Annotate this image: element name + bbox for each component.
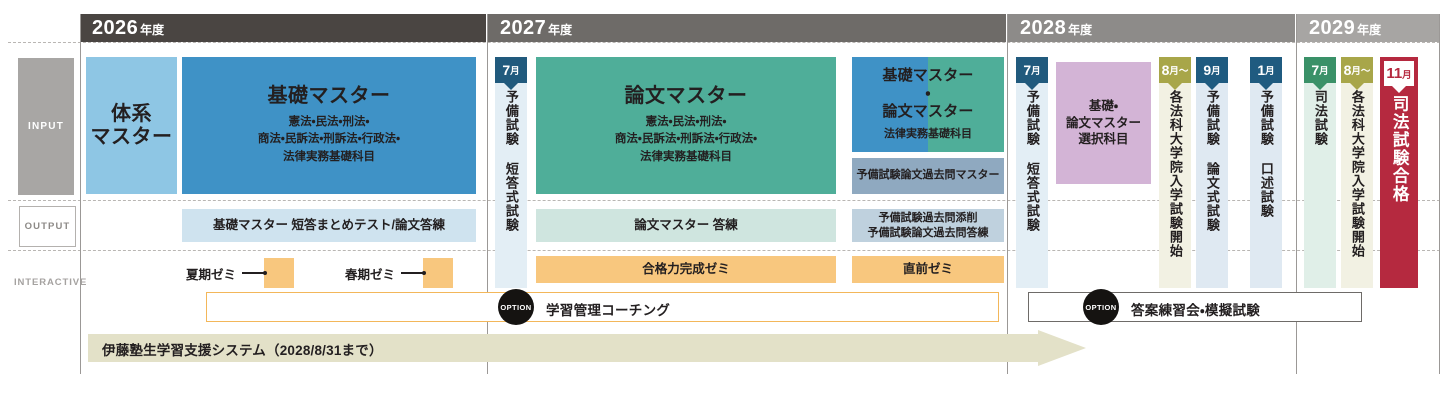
month-suffix: 月 <box>1265 67 1275 77</box>
column-divider-2026 <box>80 14 81 374</box>
interactive-box-goukakuryoku-zemi[interactable]: 合格力完成ゼミ <box>536 256 836 283</box>
input-box-taikei-master[interactable]: 体系 マスター <box>86 57 177 194</box>
month-number: 11 <box>1386 66 1402 81</box>
exam-month-badge: 1月 <box>1250 57 1282 83</box>
exam-label: 予備試験 口述試験 <box>1258 90 1274 218</box>
year-label: 2026 <box>92 18 138 38</box>
exam-label: 司法試験合格 <box>1389 95 1409 203</box>
box-title: 論文マスター 答練 <box>634 217 737 234</box>
exam-label: 各法科大学院入学試験開始 <box>1167 90 1183 258</box>
zemi-label: 夏期ゼミ <box>186 264 236 283</box>
option-bar-mogi-label: 答案練習会・模擬試験 <box>1131 299 1260 319</box>
box-title: 予備試験論文過去問マスター <box>857 168 1000 184</box>
month-suffix: 月 <box>1211 67 1221 77</box>
exam-body: 予備試験 口述試験 <box>1250 83 1282 288</box>
year-header-2026: 2026 年度 <box>80 14 486 42</box>
exam-column-shiho-goukaku[interactable]: 11月 司法試験合格 <box>1380 57 1418 288</box>
year-header-2027: 2027 年度 <box>488 14 1006 42</box>
exam-body: 予備試験 論文式試験 <box>1196 83 1228 288</box>
month-suffix: 月 <box>510 67 520 77</box>
rail-label-interactive: INTERACTIVE <box>14 277 80 288</box>
exam-month-badge: 11月 <box>1384 61 1414 86</box>
year-suffix: 年度 <box>140 24 164 36</box>
box-subtitle: 憲法・民法・刑法・ 商法・民訴法・刑訴法・行政法・ 法律実務基礎科目 <box>615 114 757 166</box>
support-system-arrow[interactable]: 伊藤塾生学習支援システム（2028/8/31まで） <box>88 330 1086 366</box>
exam-column-yobi-ronbun-2028[interactable]: 9月 予備試験 論文式試験 <box>1196 57 1228 288</box>
year-label: 2027 <box>500 18 546 38</box>
rail-label-input: INPUT <box>18 58 74 195</box>
pointer-line <box>401 272 423 274</box>
exam-body: 予備試験 短答式試験 <box>1016 83 1048 288</box>
input-box-yobi-kakomon-master[interactable]: 予備試験論文過去問マスター <box>852 158 1004 194</box>
exam-label: 予備試験 短答式試験 <box>503 90 519 232</box>
month-number: 7 <box>502 63 510 77</box>
year-header-2028: 2028 年度 <box>1008 14 1295 42</box>
box-title: 直前ゼミ <box>903 261 953 278</box>
exam-month-badge: 8月～ <box>1159 57 1191 83</box>
exam-label: 各法科大学院入学試験開始 <box>1349 90 1365 258</box>
exam-month-badge: 7月 <box>1016 57 1048 83</box>
zemi-marker-box <box>423 258 453 288</box>
exam-column-yobi-koujutsu-2028[interactable]: 1月 予備試験 口述試験 <box>1250 57 1282 288</box>
column-divider-2028 <box>1007 14 1008 374</box>
exam-label: 司法試験 <box>1312 90 1328 146</box>
exam-month-badge: 8月～ <box>1341 57 1373 83</box>
box-title: 基礎マスター 短答まとめテスト/論文答練 <box>213 217 445 234</box>
month-suffix: 月 <box>1031 67 1041 77</box>
box-title: 基礎マスター <box>268 85 391 108</box>
year-label: 2029 <box>1309 18 1355 38</box>
zemi-marker-box <box>264 258 294 288</box>
month-suffix: 月～ <box>1351 67 1370 77</box>
box-title: 予備試験過去問添削 予備試験論文過去問答練 <box>868 211 989 241</box>
box-title: 体系 マスター <box>91 103 173 149</box>
exam-body: 司法試験 <box>1304 83 1336 288</box>
exam-month-badge: 7月 <box>1304 57 1336 83</box>
exam-label: 予備試験 短答式試験 <box>1024 90 1040 232</box>
exam-month-badge: 7月 <box>495 57 527 83</box>
month-number: 7 <box>1311 63 1319 77</box>
input-box-sentaku-kamoku[interactable]: 基礎・ 論文マスター 選択科目 <box>1056 62 1151 184</box>
exam-column-shiho-shiken-2029[interactable]: 7月 司法試験 <box>1304 57 1336 288</box>
year-header-2029: 2029 年度 <box>1297 14 1440 42</box>
option-badge-icon: OPTION <box>1083 289 1119 325</box>
interactive-zemi-summer[interactable]: 夏期ゼミ <box>186 258 294 288</box>
input-box-ronbun-master[interactable]: 論文マスター 憲法・民法・刑法・ 商法・民訴法・刑訴法・行政法・ 法律実務基礎科… <box>536 57 836 194</box>
month-number: 9 <box>1203 63 1211 77</box>
interactive-zemi-spring[interactable]: 春期ゼミ <box>345 258 453 288</box>
box-title: 基礎マスター ・ 論文マスター <box>882 67 973 121</box>
row-divider-top <box>8 42 1440 43</box>
input-box-kiso-master[interactable]: 基礎マスター 憲法・民法・刑法・ 商法・民訴法・刑訴法・行政法・ 法律実務基礎科… <box>182 57 476 194</box>
year-label: 2028 <box>1020 18 1066 38</box>
exam-column-yobi-tanto-2028[interactable]: 7月 予備試験 短答式試験 <box>1016 57 1048 288</box>
year-suffix: 年度 <box>548 24 572 36</box>
month-suffix: 月～ <box>1169 67 1188 77</box>
box-subtitle: 法律実務基礎科目 <box>884 127 972 143</box>
output-box-yobi-tensaku[interactable]: 予備試験過去問添削 予備試験論文過去問答練 <box>852 209 1004 242</box>
month-suffix: 月 <box>1402 71 1412 81</box>
output-box-kiso-tanto-test[interactable]: 基礎マスター 短答まとめテスト/論文答練 <box>182 209 476 242</box>
option-bar-coaching-label: 学習管理コーチング <box>546 299 670 319</box>
support-system-label: 伊藤塾生学習支援システム（2028/8/31まで） <box>102 339 383 359</box>
exam-month-badge: 9月 <box>1196 57 1228 83</box>
year-suffix: 年度 <box>1357 24 1381 36</box>
year-suffix: 年度 <box>1068 24 1092 36</box>
pointer-line <box>242 272 264 274</box>
month-number: 7 <box>1023 63 1031 77</box>
rail-label-output: OUTPUT <box>19 206 76 247</box>
month-number: 1 <box>1257 63 1265 77</box>
exam-column-law-school-2029[interactable]: 8月～ 各法科大学院入学試験開始 <box>1341 57 1373 288</box>
option-badge-label: OPTION <box>500 303 531 312</box>
exam-column-yobi-tanto-2027[interactable]: 7月 予備試験 短答式試験 <box>495 57 527 288</box>
input-box-kiso-ronbun-master[interactable]: 基礎マスター ・ 論文マスター 法律実務基礎科目 <box>852 57 1004 152</box>
box-title: 論文マスター <box>625 85 748 108</box>
box-title: 基礎・ 論文マスター 選択科目 <box>1066 98 1141 149</box>
interactive-box-chokuzen-zemi[interactable]: 直前ゼミ <box>852 256 1004 283</box>
exam-body: 各法科大学院入学試験開始 <box>1159 83 1191 288</box>
option-badge-icon: OPTION <box>498 289 534 325</box>
exam-body: 司法試験合格 <box>1380 86 1418 288</box>
exam-column-law-school-2028[interactable]: 8月～ 各法科大学院入学試験開始 <box>1159 57 1191 288</box>
exam-label: 予備試験 論文式試験 <box>1204 90 1220 232</box>
option-badge-label: OPTION <box>1085 303 1116 312</box>
box-title: 合格力完成ゼミ <box>642 261 730 278</box>
exam-body: 予備試験 短答式試験 <box>495 83 527 288</box>
zemi-label: 春期ゼミ <box>345 264 395 283</box>
exam-body: 各法科大学院入学試験開始 <box>1341 83 1373 288</box>
box-subtitle: 憲法・民法・刑法・ 商法・民訴法・刑訴法・行政法・ 法律実務基礎科目 <box>258 114 400 166</box>
output-box-ronbun-touren[interactable]: 論文マスター 答練 <box>536 209 836 242</box>
month-suffix: 月 <box>1319 67 1329 77</box>
